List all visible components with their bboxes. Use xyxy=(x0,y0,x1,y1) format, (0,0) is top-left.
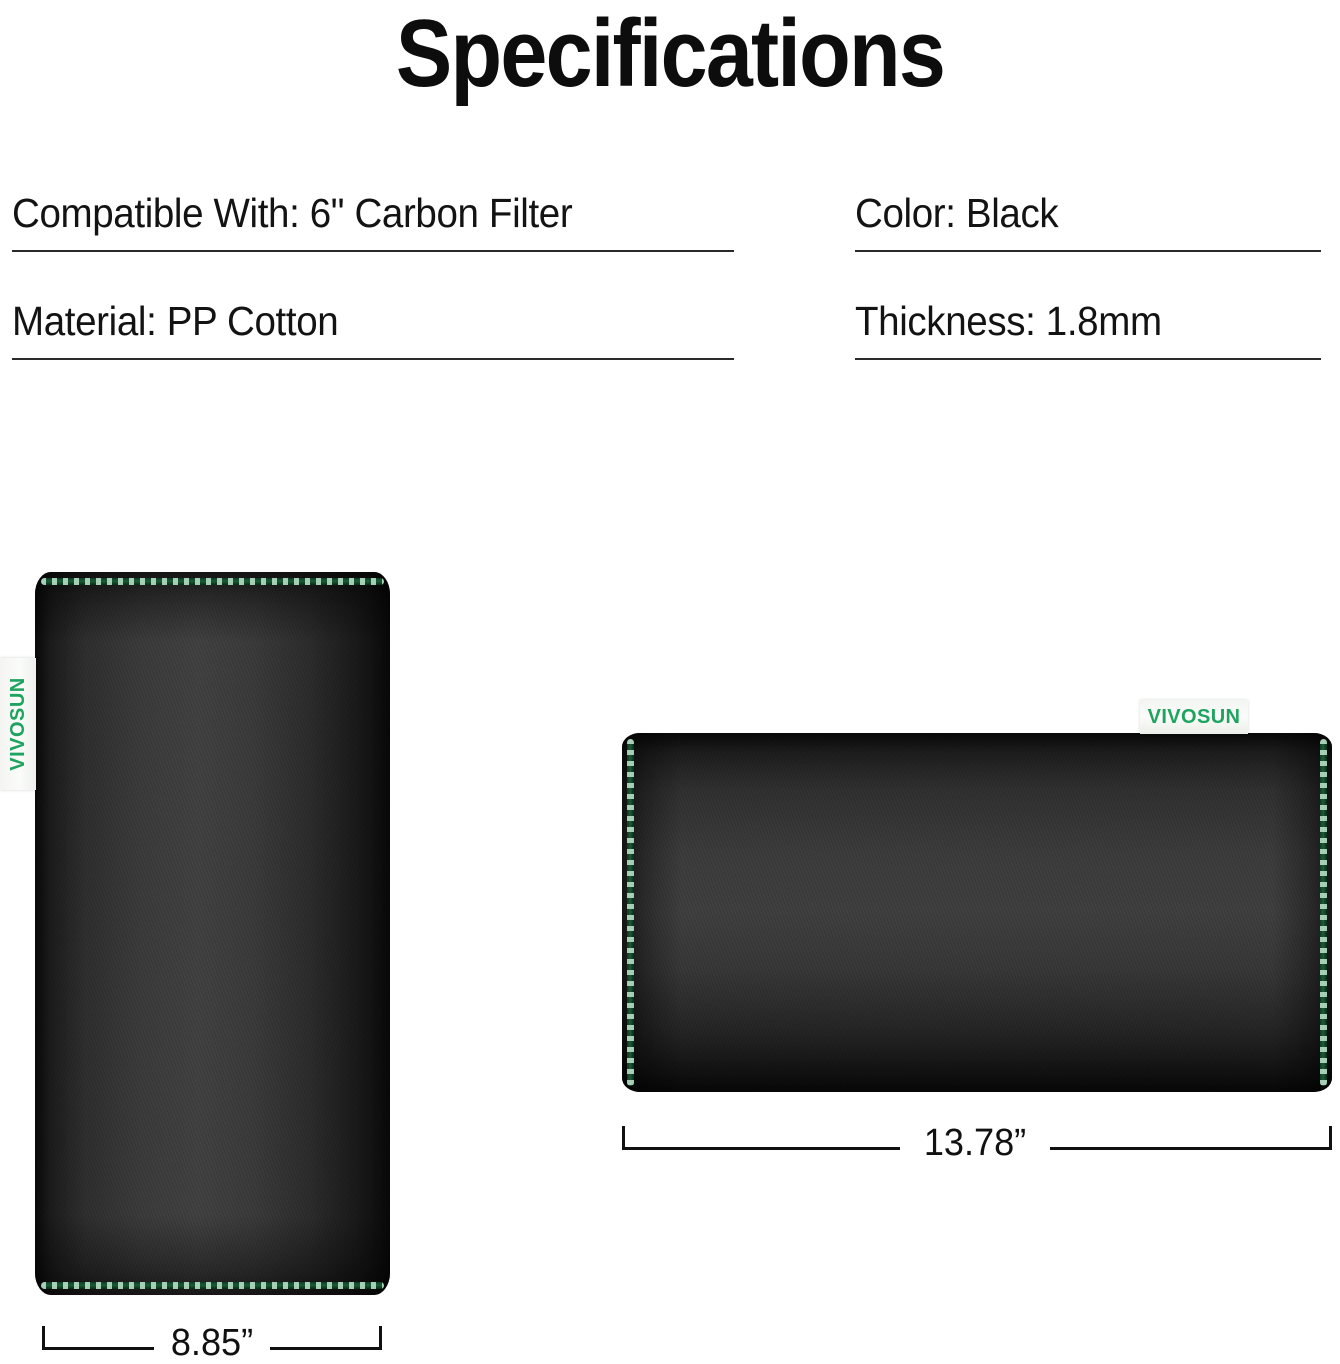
dimension-line-segment xyxy=(42,1347,154,1350)
green-stitched-edge-top xyxy=(41,578,384,585)
dimension-label-width-left: 8.85” xyxy=(157,1323,267,1363)
leather-grain-texture xyxy=(35,572,390,1295)
product-body xyxy=(622,733,1332,1092)
dimension-end-cap-right xyxy=(379,1326,382,1350)
spec-text-material: Material: PP Cotton xyxy=(12,298,338,344)
dimension-line-segment xyxy=(1050,1147,1332,1150)
spec-divider xyxy=(855,358,1321,360)
spec-row-material: Material: PP Cotton xyxy=(12,268,734,360)
spec-divider xyxy=(855,250,1321,252)
product-image-upright-roll xyxy=(35,572,390,1295)
spec-row-thickness: Thickness: 1.8mm xyxy=(855,268,1321,360)
dimension-callout-width-left: 8.85” xyxy=(42,1306,382,1350)
specifications-table: Compatible With: 6" Carbon Filter Color:… xyxy=(0,160,1340,360)
product-body xyxy=(35,572,390,1295)
product-image-lying-roll xyxy=(622,733,1332,1092)
green-stitched-edge-bottom xyxy=(41,1282,384,1289)
spec-text-thickness: Thickness: 1.8mm xyxy=(855,298,1162,344)
spec-divider xyxy=(12,358,734,360)
vivosun-logo-text: VIVOSUN xyxy=(1148,707,1241,727)
spec-text-compatible-with: Compatible With: 6" Carbon Filter xyxy=(12,190,572,236)
page-title: Specifications xyxy=(80,4,1259,104)
dimension-line-segment xyxy=(270,1347,382,1350)
spec-row-color: Color: Black xyxy=(855,160,1321,252)
brand-tag-right: VIVOSUN xyxy=(1140,700,1248,734)
dimension-line-segment xyxy=(622,1147,900,1150)
spec-text-color: Color: Black xyxy=(855,190,1058,236)
dimension-callout-width-right: 13.78” xyxy=(622,1106,1332,1150)
brand-tag-left: VIVOSUN xyxy=(0,658,36,790)
green-stitched-edge-left xyxy=(627,739,634,1086)
spec-row-compatible-with: Compatible With: 6" Carbon Filter xyxy=(12,160,734,252)
dimension-label-width-right: 13.78” xyxy=(904,1123,1047,1163)
spec-divider xyxy=(12,250,734,252)
green-stitched-edge-right xyxy=(1320,739,1327,1086)
dimension-end-cap-right xyxy=(1329,1126,1332,1150)
leather-grain-texture xyxy=(622,733,1332,1092)
vivosun-logo-text: VIVOSUN xyxy=(8,677,28,771)
